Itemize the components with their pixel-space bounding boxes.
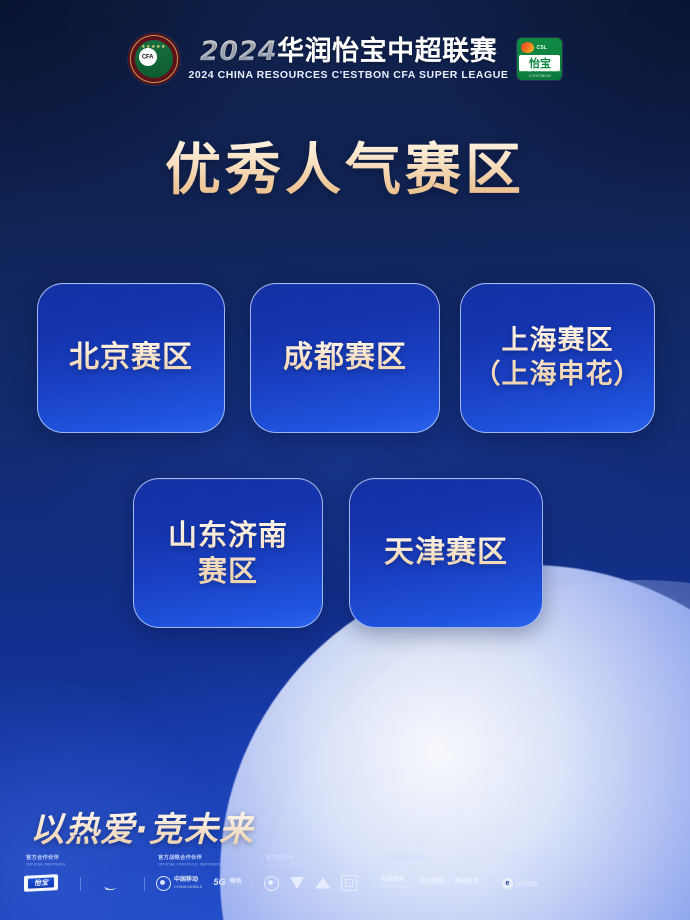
migu-5g-logo-text: 5G [213, 877, 225, 888]
region-card-shandong-jinan[interactable]: 山东济南 赛区 [133, 478, 323, 628]
region-card-label-line1: 上海赛区 [474, 324, 642, 358]
sponsor-logos: 怡宝 [24, 870, 133, 896]
region-card-tianjin[interactable]: 天津赛区 [349, 478, 543, 628]
sports-media-logo-text: 央视体育 CCTV SPORTS [380, 877, 408, 890]
sponsor-logos [264, 870, 357, 896]
sponsor-logos: 央视体育 CCTV SPORTS 咪咕视频 腾讯体育 [380, 870, 478, 896]
sponsor-divider [144, 877, 145, 891]
sponsor-group-strategic-partners: 官方战略合作伙伴 OFFICIAL STRATEGIC PARTNERS 中国移… [156, 856, 241, 896]
sponsor-caption-en: OFFICIAL PARTNERS [26, 862, 65, 868]
nike-swoosh-icon [103, 876, 133, 890]
sponsor-caption-en: OFFICIAL SPONSORS [266, 862, 307, 868]
sponsor-caption-cn: 官方战略合作伙伴 [158, 854, 202, 860]
photo-agency-logo-text: photo [516, 879, 538, 888]
sponsor-caption-cn: 官方图片合作机构 [504, 854, 548, 860]
region-card-label: 成都赛区 [275, 339, 415, 377]
region-card-label: 山东济南 赛区 [160, 517, 296, 590]
sponsor-circle-logo-icon [264, 876, 279, 891]
china-mobile-mark-icon [156, 876, 171, 891]
sponsor-bar: 官方合作伙伴 OFFICIAL PARTNERS 怡宝 [24, 852, 666, 896]
league-header: ★★★★★ CFA 2024华润怡宝中超联赛 2024 CHINA RESOUR… [0, 33, 690, 85]
sponsor-group-media-partners: 官方战略合作伙伴 OFFICIAL STRATEGIC PARTNERS 央视体… [380, 856, 478, 896]
sponsor-fan-logo-icon [315, 878, 330, 889]
sponsor-caption-en: OFFICIAL STRATEGIC PARTNERS [158, 862, 220, 868]
region-card-label-line2: 赛区 [168, 553, 288, 589]
cestbon-sponsor-logo-text: 怡宝 [24, 874, 58, 892]
cestbon-sponsor-logo-icon: 怡宝 [24, 874, 58, 892]
league-name-cn: 华润怡宝中超联赛 [277, 36, 497, 67]
region-card-label-line2: （上海申花） [474, 358, 642, 392]
sponsor-caption-en: OFFICIAL STRATEGIC PARTNERS [382, 862, 444, 868]
sponsor-logos: e photo [502, 870, 538, 896]
sponsor-group-caption: 官方赞助商 OFFICIAL SPONSORS [266, 854, 307, 868]
sponsor-divider [368, 877, 369, 891]
sponsor-caption-cn: 官方合作伙伴 [26, 854, 59, 860]
migu-logo-text: 咪咕 [229, 879, 241, 887]
region-card-shanghai[interactable]: 上海赛区 （上海申花） [460, 283, 655, 433]
cestbon-csl-text: CSL [536, 45, 547, 51]
cestbon-swirl-icon [521, 42, 534, 53]
migu-5g-logo-icon: 5G 咪咕 [213, 877, 241, 888]
cfa-logo-ball: CFA [139, 48, 157, 66]
page-title: 优秀人气赛区 [0, 140, 690, 202]
sponsor-divider [252, 877, 253, 891]
league-title-cn: 2024华润怡宝中超联赛 [200, 37, 497, 66]
region-card-label: 天津赛区 [376, 534, 516, 572]
sponsor-group-caption: 官方战略合作伙伴 OFFICIAL STRATEGIC PARTNERS [382, 854, 444, 868]
sponsor-divider [80, 877, 81, 891]
sponsor-group-caption: 官方合作伙伴 OFFICIAL PARTNERS [26, 854, 65, 868]
sponsor-group-official-sponsors: 官方赞助商 OFFICIAL SPONSORS [264, 856, 357, 896]
cestbon-logo-text: 怡宝 [529, 58, 551, 69]
slogan: 以热爱·竞未来 [30, 802, 254, 851]
sponsor-triangle-logo-icon [290, 877, 304, 889]
sponsor-caption-en: OFFICIAL PHOTO AGENCY [504, 862, 554, 868]
region-card-label-line1: 山东济南 [168, 517, 288, 553]
sponsor-group-official-partners: 官方合作伙伴 OFFICIAL PARTNERS 怡宝 [24, 856, 133, 896]
league-year: 2024 [200, 36, 277, 67]
region-card-label: 上海赛区 （上海申花） [466, 324, 650, 392]
poster-root: ★★★★★ CFA 2024华润怡宝中超联赛 2024 CHINA RESOUR… [0, 0, 690, 920]
sponsor-box-logo-icon [341, 875, 357, 891]
region-card-beijing[interactable]: 北京赛区 [37, 283, 225, 433]
cestbon-logo-cap: CSL [521, 41, 558, 54]
cfa-logo-ball-text: CFA [142, 55, 153, 61]
china-mobile-logo-icon: 中国移动 CHINA MOBILE [156, 876, 202, 891]
photo-agency-logo-icon: e photo [502, 878, 538, 889]
league-wordmark: 2024华润怡宝中超联赛 2024 CHINA RESOURCES C'ESTB… [189, 37, 509, 80]
cestbon-logo-sub: CHINA RESOURCES C'ESTBON [517, 68, 562, 78]
media-partner-2-logo-text: 腾讯体育 [455, 879, 479, 887]
poster-content: ★★★★★ CFA 2024华润怡宝中超联赛 2024 CHINA RESOUR… [0, 0, 690, 920]
sponsor-caption-cn: 官方战略合作伙伴 [382, 854, 426, 860]
league-title-en: 2024 CHINA RESOURCES C'ESTBON CFA SUPER … [189, 69, 509, 81]
sponsor-caption-cn: 官方赞助商 [266, 854, 294, 860]
cestbon-logo-icon: CSL 怡宝 CHINA RESOURCES C'ESTBON [517, 38, 562, 80]
photo-agency-mark-icon: e [502, 878, 513, 889]
cfa-logo-icon: ★★★★★ CFA [128, 33, 180, 85]
sponsor-group-photo-agency: 官方图片合作机构 OFFICIAL PHOTO AGENCY e photo [502, 856, 547, 896]
region-card-chengdu[interactable]: 成都赛区 [250, 283, 440, 433]
sponsor-divider [490, 877, 491, 891]
china-mobile-logo-text: 中国移动 CHINA MOBILE [174, 877, 202, 890]
sponsor-group-caption: 官方战略合作伙伴 OFFICIAL STRATEGIC PARTNERS [158, 854, 220, 868]
media-partner-logo-text: 咪咕视频 [420, 879, 444, 887]
sponsor-group-caption: 官方图片合作机构 OFFICIAL PHOTO AGENCY [504, 854, 554, 868]
region-card-label: 北京赛区 [61, 339, 201, 377]
sponsor-logos: 中国移动 CHINA MOBILE 5G 咪咕 [156, 870, 241, 896]
